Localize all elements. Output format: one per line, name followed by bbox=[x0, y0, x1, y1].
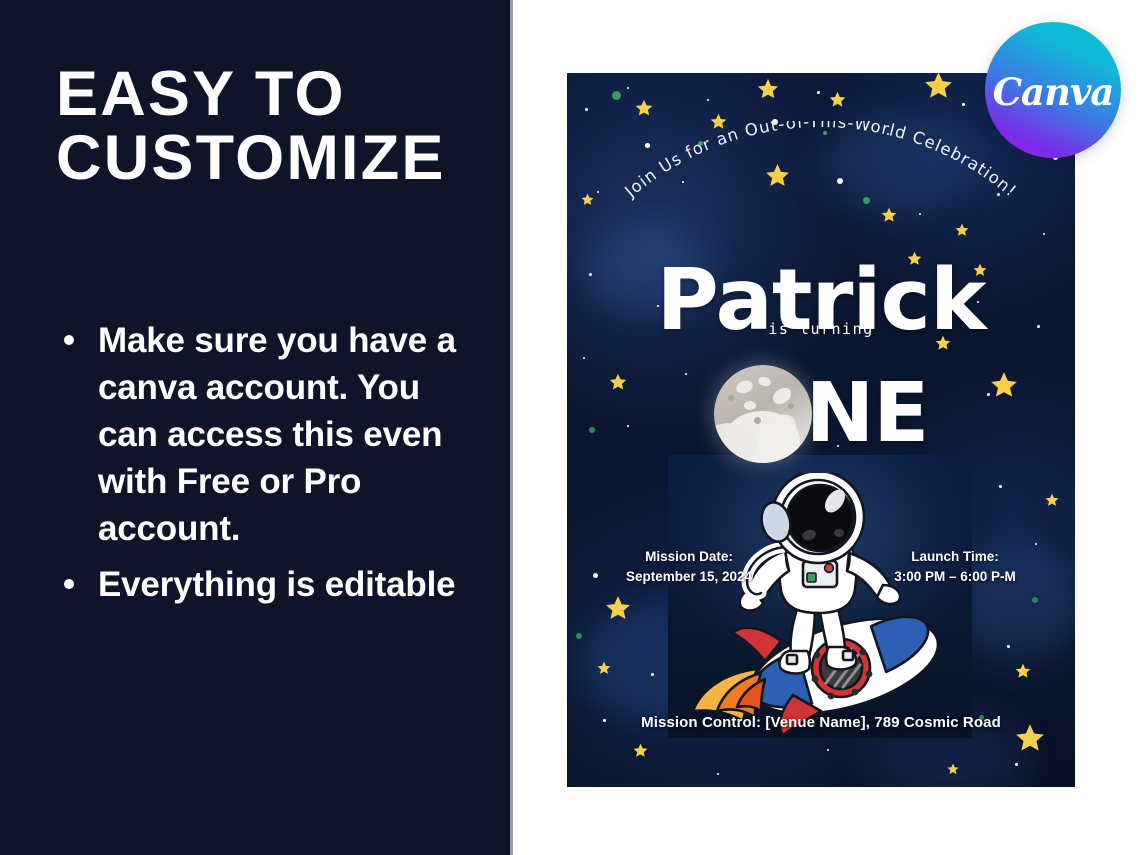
headline-line-1: EASY TO bbox=[56, 62, 486, 126]
arc-headline: Join Us for an Out-of-This-World Celebra… bbox=[567, 121, 1075, 251]
star-icon bbox=[635, 99, 653, 117]
launch-time-label: Launch Time: bbox=[855, 547, 1055, 567]
mission-control-address: Mission Control: [Venue Name], 789 Cosmi… bbox=[567, 714, 1075, 731]
arc-headline-text: Join Us for an Out-of-This-World Celebra… bbox=[621, 121, 1021, 202]
canva-logo-badge: Canva bbox=[985, 22, 1121, 158]
mission-date-label: Mission Date: bbox=[589, 547, 789, 567]
launch-time: Launch Time: 3:00 PM – 6:00 P-M bbox=[855, 547, 1055, 586]
info-panel: EASY TO CUSTOMIZE Make sure you have a c… bbox=[0, 0, 513, 855]
star-icon bbox=[633, 743, 648, 758]
star-icon bbox=[605, 595, 631, 621]
star-icon bbox=[924, 73, 953, 100]
star-icon bbox=[597, 661, 611, 675]
list-item: Make sure you have a canva account. You … bbox=[58, 318, 478, 552]
instruction-list: Make sure you have a canva account. You … bbox=[58, 318, 478, 619]
headline-line-2: CUSTOMIZE bbox=[56, 126, 486, 190]
canva-wordmark: Canva bbox=[993, 70, 1114, 114]
bullet-dot-icon bbox=[64, 335, 74, 345]
mission-date: Mission Date: September 15, 2024 bbox=[589, 547, 789, 586]
is-turning-label: is turning bbox=[567, 320, 1075, 338]
astronaut-on-rocket-illustration bbox=[685, 473, 965, 743]
star-icon bbox=[1045, 493, 1059, 507]
moon-icon bbox=[714, 365, 812, 463]
star-icon bbox=[757, 78, 779, 100]
mission-date-value: September 15, 2024 bbox=[589, 567, 789, 587]
page-title: EASY TO CUSTOMIZE bbox=[56, 62, 486, 191]
bullet-dot-icon bbox=[64, 579, 74, 589]
star-icon bbox=[947, 763, 959, 775]
list-item-text: Make sure you have a canva account. You … bbox=[98, 321, 456, 548]
star-icon bbox=[829, 91, 846, 108]
launch-time-value: 3:00 PM – 6:00 P-M bbox=[855, 567, 1055, 587]
invitation-card-preview: Join Us for an Out-of-This-World Celebra… bbox=[567, 73, 1075, 787]
list-item-text: Everything is editable bbox=[98, 565, 455, 604]
star-icon bbox=[1015, 663, 1031, 679]
list-item: Everything is editable bbox=[58, 562, 478, 609]
age-text: NE bbox=[806, 373, 929, 455]
age-row: NE bbox=[567, 365, 1075, 463]
